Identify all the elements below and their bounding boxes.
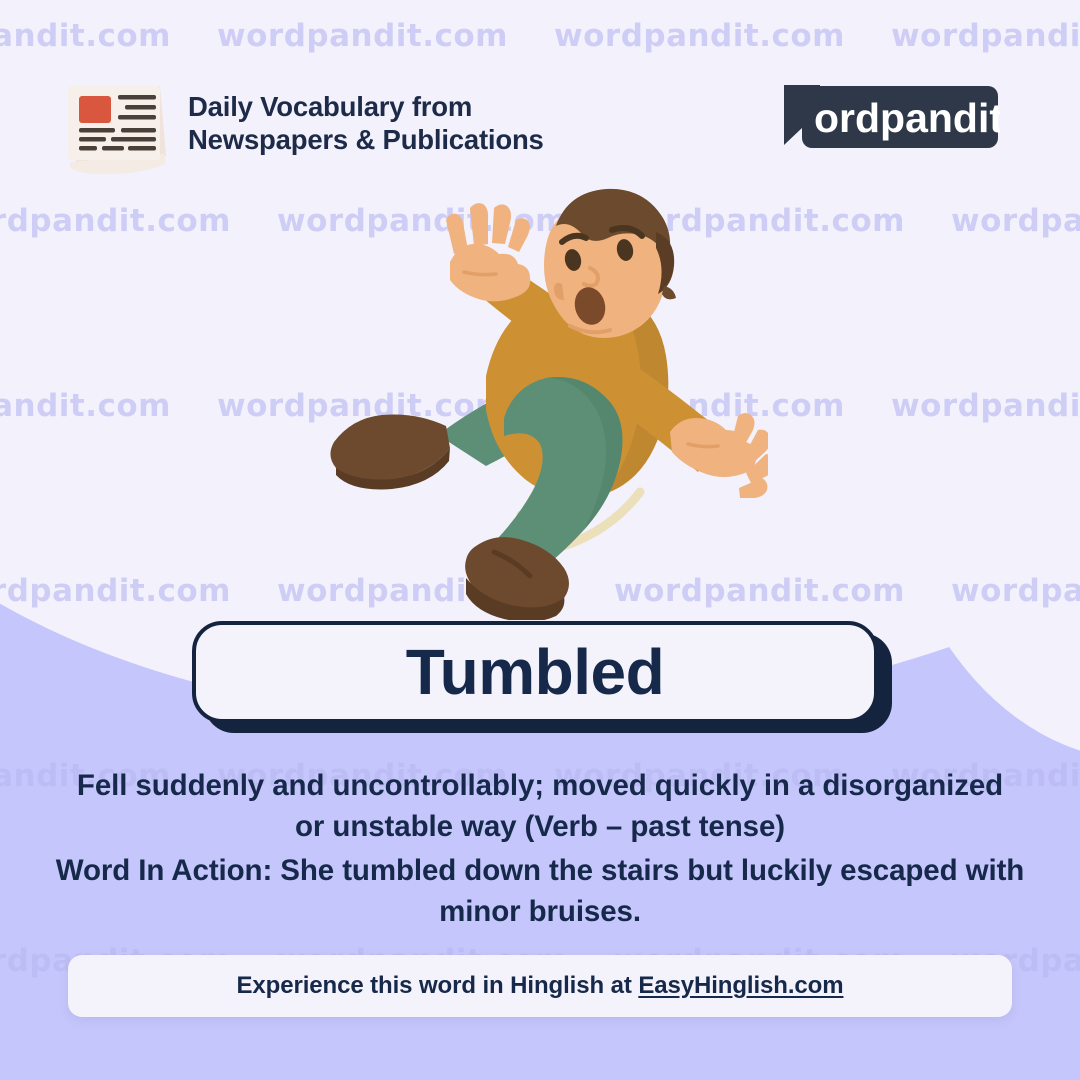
easyhinglish-link[interactable]: EasyHinglish.com xyxy=(638,972,843,999)
poster-canvas: wordpandit.comwordpandit.comwordpandit.c… xyxy=(0,0,1080,1080)
word-in-action: Word In Action: She tumbled down the sta… xyxy=(40,850,1040,932)
logo-text: ordpandit xyxy=(814,95,1000,141)
newspaper-icon xyxy=(56,72,174,176)
word-card-container: Tumbled xyxy=(192,621,892,733)
word-title: Tumbled xyxy=(406,640,664,704)
right-hand xyxy=(670,413,768,498)
word-definition: Fell suddenly and uncontrollably; moved … xyxy=(60,765,1020,847)
hinglish-banner-prefix: Experience this word in Hinglish at xyxy=(237,972,639,999)
header: Daily Vocabulary from Newspapers & Publi… xyxy=(0,0,1080,186)
falling-man-illustration xyxy=(318,180,768,620)
wordpandit-logo[interactable]: ordpandit xyxy=(778,82,1000,152)
header-title-line2: Newspapers & Publications xyxy=(188,123,544,156)
left-hand xyxy=(446,203,530,301)
hinglish-banner[interactable]: Experience this word in Hinglish at Easy… xyxy=(68,955,1012,1017)
hinglish-banner-text: Experience this word in Hinglish at Easy… xyxy=(237,972,844,1000)
head xyxy=(544,189,676,338)
header-title-line1: Daily Vocabulary from xyxy=(188,91,472,122)
header-title: Daily Vocabulary from Newspapers & Publi… xyxy=(188,90,544,156)
word-card: Tumbled xyxy=(192,621,878,723)
